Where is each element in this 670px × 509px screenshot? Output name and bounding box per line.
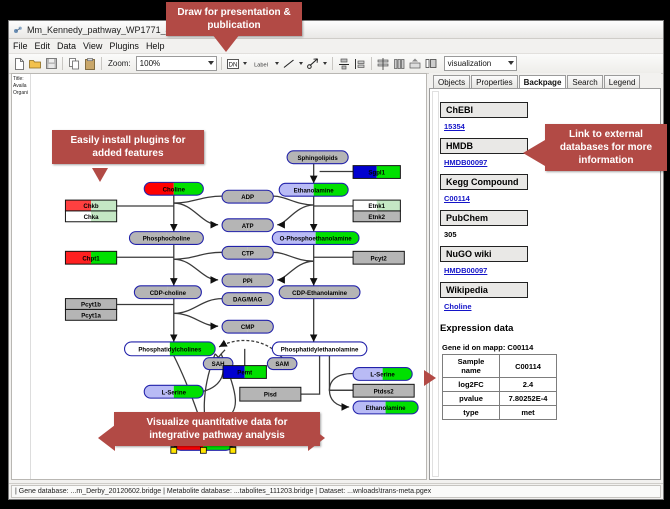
gene-node[interactable]: Ptdss2 xyxy=(353,384,414,397)
interaction-icon[interactable] xyxy=(306,56,320,71)
node-label: Phosphatidylethanolamine xyxy=(281,346,359,353)
menu-help[interactable]: Help xyxy=(146,41,165,51)
pathway-edge xyxy=(277,205,313,225)
callout-visualize: Visualize quantitative data for integrat… xyxy=(114,412,320,446)
pathway-edge xyxy=(277,261,313,280)
table-row: type met xyxy=(443,406,557,420)
distribute-icon[interactable] xyxy=(353,56,367,71)
node-label: Etnk1 xyxy=(368,203,385,210)
label-icon[interactable]: Label xyxy=(250,56,272,71)
callout-plugins-arrow xyxy=(92,168,108,182)
node-label: Etnk2 xyxy=(368,214,385,221)
visualization-value: visualization xyxy=(448,59,492,68)
pathway-edge xyxy=(329,373,353,390)
node-label: ATP xyxy=(242,223,254,230)
save-icon[interactable] xyxy=(44,56,58,71)
node-label: Phosphocholine xyxy=(143,236,191,243)
node-label: Chka xyxy=(84,214,100,221)
backpage-scrollbar[interactable] xyxy=(432,91,439,477)
callout-link: Link to external databases for more info… xyxy=(545,124,667,171)
db-entry-pubchem: PubChem 305 xyxy=(440,203,652,239)
callout-visualize-arrow-left xyxy=(98,425,115,451)
metabolite-node[interactable]: L-Serine xyxy=(144,385,203,398)
table-row: log2FC 2.4 xyxy=(443,378,557,392)
pathway-edge xyxy=(273,196,313,205)
metabolite-node[interactable]: Phosphocholine xyxy=(129,232,203,245)
node-label: Pisd xyxy=(264,392,277,399)
gene-node[interactable]: Pcyt1b xyxy=(65,299,116,310)
callout-plugins: Easily install plugins for added feature… xyxy=(52,130,204,164)
metabolite-node[interactable]: SAM xyxy=(267,358,297,370)
metabolite-node[interactable]: ATP xyxy=(222,219,273,232)
callout-plugins-text: Easily install plugins for added feature… xyxy=(70,135,185,159)
zoom-label: Zoom: xyxy=(108,59,131,68)
db-link-nugo[interactable]: HMDB00097 xyxy=(444,266,652,275)
callout-link-arrow xyxy=(523,140,545,166)
node-label: Phosphatidylcholines xyxy=(138,346,202,353)
zoom-value: 100% xyxy=(140,59,160,68)
group-icon[interactable] xyxy=(424,56,438,71)
node-label: PPi xyxy=(243,278,253,285)
gene-node[interactable]: Etnk2 xyxy=(353,211,400,222)
node-label: O-Phosphoethanolamine xyxy=(280,236,353,243)
menu-plugins[interactable]: Plugins xyxy=(109,41,139,51)
node-label: Pcyt1b xyxy=(81,302,101,309)
window-title-bar: Mm_Kennedy_pathway_WP1771_45176.gpml xyxy=(9,21,663,39)
node-label: Pemt xyxy=(237,370,252,377)
menu-file[interactable]: File xyxy=(13,41,28,51)
db-link-wikipedia[interactable]: Choline xyxy=(444,302,652,311)
node-label: Pcyt2 xyxy=(371,255,388,262)
toolbar-separator-2 xyxy=(101,57,102,70)
pathvisio-window: Mm_Kennedy_pathway_WP1771_45176.gpml Fil… xyxy=(8,20,664,500)
metabolite-node[interactable]: DAG/MAG xyxy=(222,293,273,306)
paste-icon[interactable] xyxy=(83,56,97,71)
db-value-pubchem: 305 xyxy=(444,230,652,239)
interaction-dropdown-icon[interactable] xyxy=(323,62,327,65)
expr-key-log2fc: log2FC xyxy=(443,378,500,392)
pathway-edge xyxy=(174,259,218,280)
metabolite-node[interactable]: ADP xyxy=(222,190,273,203)
expr-key-type: type xyxy=(443,406,500,420)
expr-val-pvalue: 7.80252E-4 xyxy=(500,392,557,406)
gene-node[interactable]: Chka xyxy=(65,211,116,222)
svg-text:Label: Label xyxy=(254,62,268,68)
pathway-edge xyxy=(174,196,222,203)
stack-icon[interactable] xyxy=(376,56,390,71)
metabolite-node[interactable]: L-Serine xyxy=(353,368,412,381)
node-label: Pcyt1a xyxy=(81,312,101,319)
db-header-pubchem: PubChem xyxy=(440,210,528,226)
db-link-kegg[interactable]: C00114 xyxy=(444,194,652,203)
new-icon[interactable] xyxy=(12,56,26,71)
gene-node[interactable]: Chpt1 xyxy=(65,251,116,264)
callout-draw-text: Draw for presentation & publication xyxy=(177,7,290,31)
tab-backpage[interactable]: Backpage xyxy=(519,75,567,89)
expression-data-heading: Expression data xyxy=(440,323,652,334)
node-label: Ethanolamine xyxy=(366,405,407,412)
db-entry-wikipedia: Wikipedia Choline xyxy=(440,275,652,311)
menu-view[interactable]: View xyxy=(83,41,102,51)
datanode-icon[interactable]: DN xyxy=(226,56,240,71)
label-dropdown-icon[interactable] xyxy=(275,62,279,65)
resize-icon[interactable] xyxy=(392,56,406,71)
node-label: ADP xyxy=(241,194,254,201)
db-header-hmdb: HMDB xyxy=(440,138,528,154)
gene-node[interactable]: Etnk1 xyxy=(353,200,400,211)
db-header-wikipedia: Wikipedia xyxy=(440,282,528,298)
menu-edit[interactable]: Edit xyxy=(35,41,51,51)
toolbar-separator-3 xyxy=(221,57,222,70)
pathway-edge xyxy=(301,356,320,394)
chevron-down-icon[interactable] xyxy=(208,61,214,65)
metabolite-node[interactable]: Phosphatidylethanolamine xyxy=(272,342,367,356)
line-icon[interactable] xyxy=(282,56,296,71)
selection-handle xyxy=(230,447,236,453)
pathway-edge xyxy=(174,252,222,259)
svg-text:DN: DN xyxy=(228,62,237,68)
screenshot-frame: Mm_Kennedy_pathway_WP1771_45176.gpml Fil… xyxy=(0,0,670,509)
node-label: DAG/MAG xyxy=(233,297,263,304)
expr-val-log2fc: 2.4 xyxy=(500,378,557,392)
tab-objects[interactable]: Objects xyxy=(433,75,470,88)
expr-key-sample: Sample name xyxy=(443,355,500,378)
tab-properties[interactable]: Properties xyxy=(471,75,517,88)
datanode-dropdown-icon[interactable] xyxy=(243,62,247,65)
node-label: CDP-Ethanolamine xyxy=(292,290,347,297)
metabolite-node[interactable]: CTP xyxy=(222,246,273,259)
pathway-canvas[interactable]: Title: Availa Organi CholineSphingolipid… xyxy=(11,73,427,480)
selection-handle xyxy=(171,447,177,453)
pathway-edge xyxy=(174,313,218,326)
order-icon[interactable] xyxy=(408,56,422,71)
node-label: Sgpl1 xyxy=(368,170,385,177)
metabolite-node[interactable]: CMP xyxy=(222,320,273,333)
menu-data[interactable]: Data xyxy=(57,41,76,51)
expression-table: Sample name C00114 log2FC 2.4 pvalue 7.8… xyxy=(442,354,557,420)
node-label: Ethanolamine xyxy=(294,187,335,194)
callout-link-arrow-2 xyxy=(424,370,436,386)
tab-legend[interactable]: Legend xyxy=(604,75,641,88)
toolbar-separator-4 xyxy=(332,57,333,70)
node-label: CTP xyxy=(242,250,254,257)
gene-node[interactable]: Chkb xyxy=(65,200,116,211)
node-label: L-Serine xyxy=(370,372,395,379)
expr-key-pvalue: pvalue xyxy=(443,392,500,406)
info-available-label: Availa xyxy=(13,83,29,90)
db-entry-kegg: Kegg Compound C00114 xyxy=(440,167,652,203)
copy-icon[interactable] xyxy=(67,56,81,71)
metabolite-node[interactable]: O-Phosphoethanolamine xyxy=(272,232,359,245)
pathway-edge xyxy=(273,252,313,261)
callout-visualize-text: Visualize quantitative data for integrat… xyxy=(147,417,288,441)
callout-draw: Draw for presentation & publication xyxy=(166,2,302,36)
metabolite-node[interactable]: Choline xyxy=(144,182,203,195)
node-label: Chkb xyxy=(83,203,99,210)
table-row: pvalue 7.80252E-4 xyxy=(443,392,557,406)
gene-id-label: Gene id on mapp: C00114 xyxy=(442,343,652,352)
callout-draw-arrow xyxy=(212,34,240,52)
db-header-chebi: ChEBI xyxy=(440,102,528,118)
line-dropdown-icon[interactable] xyxy=(299,62,303,65)
expr-val-type: met xyxy=(500,406,557,420)
gene-node[interactable]: Pemt xyxy=(223,366,266,379)
node-label: Sphingolipids xyxy=(297,155,338,162)
zoom-combobox[interactable]: 100% xyxy=(136,56,217,71)
gene-node[interactable]: Pcyt2 xyxy=(353,251,404,264)
tab-search[interactable]: Search xyxy=(567,75,602,88)
callout-link-text: Link to external databases for more info… xyxy=(560,129,652,166)
db-header-kegg: Kegg Compound xyxy=(440,174,528,190)
metabolite-node[interactable]: PPi xyxy=(222,274,273,287)
app-icon xyxy=(13,25,23,35)
node-label: Ptdss2 xyxy=(374,388,395,395)
menu-bar[interactable]: File Edit Data View Plugins Help xyxy=(9,39,663,54)
status-bar-text: | Gene database: ...m_Derby_20120602.bri… xyxy=(11,485,661,498)
node-label: SAM xyxy=(275,361,289,368)
pathway-edge xyxy=(219,340,272,348)
table-row: Sample name C00114 xyxy=(443,355,557,378)
metabolite-node[interactable]: CDP-choline xyxy=(134,286,201,299)
align-icon[interactable] xyxy=(337,56,351,71)
metabolite-node[interactable]: Sphingolipids xyxy=(287,151,348,164)
side-panel-tabs[interactable]: Objects Properties Backpage Search Legen… xyxy=(429,73,661,88)
metabolite-node[interactable]: CDP-Ethanolamine xyxy=(279,286,360,299)
db-entry-nugo: NuGO wiki HMDB00097 xyxy=(440,239,652,275)
info-organism-label: Organi xyxy=(13,90,29,97)
node-label: Chpt1 xyxy=(82,255,100,262)
chevron-down-icon[interactable] xyxy=(508,61,514,65)
pathway-edge xyxy=(329,390,353,407)
gene-node[interactable]: Pisd xyxy=(240,387,301,401)
visualization-combobox[interactable]: visualization xyxy=(444,56,517,71)
gene-node[interactable]: Sgpl1 xyxy=(353,166,400,179)
toolbar-separator-1 xyxy=(62,57,63,70)
callout-visualize-arrow-right xyxy=(308,425,325,451)
expr-val-sample: C00114 xyxy=(500,355,557,378)
pathway-edge xyxy=(174,299,222,314)
info-title-label: Title: xyxy=(13,76,29,83)
metabolite-node[interactable]: Ethanolamine xyxy=(279,183,348,196)
metabolite-node[interactable]: Ethanolamine xyxy=(353,401,418,414)
metabolite-node[interactable]: Phosphatidylcholines xyxy=(125,342,216,356)
db-header-nugo: NuGO wiki xyxy=(440,246,528,262)
node-label: Choline xyxy=(163,186,186,193)
pathway-edge xyxy=(174,203,218,225)
selection-handle xyxy=(200,447,206,453)
gene-node[interactable]: Pcyt1a xyxy=(65,309,116,320)
node-label: CMP xyxy=(241,324,255,331)
status-bar: | Gene database: ...m_Derby_20120602.bri… xyxy=(9,483,663,499)
node-label: L-Serine xyxy=(162,389,187,396)
toolbar-separator-5 xyxy=(371,57,372,70)
node-label: CDP-choline xyxy=(150,290,187,297)
open-icon[interactable] xyxy=(28,56,42,71)
